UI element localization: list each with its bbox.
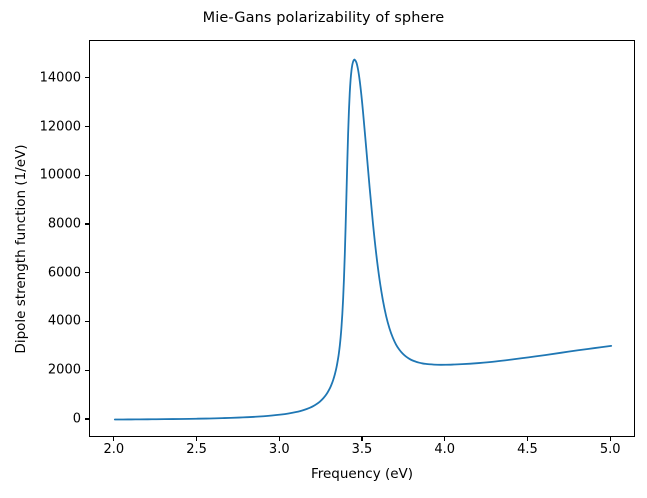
y-tick-label: 12000 xyxy=(40,120,81,133)
x-tick-label: 4.5 xyxy=(517,443,538,456)
x-tick-label: 3.0 xyxy=(269,443,290,456)
x-tick-label: 5.0 xyxy=(600,443,621,456)
y-tick-label: 14000 xyxy=(40,71,81,84)
y-tick-label: 4000 xyxy=(48,315,81,328)
matplotlib-figure: Mie-Gans polarizability of sphere Dipole… xyxy=(0,0,647,498)
x-axis-label: Frequency (eV) xyxy=(89,466,635,482)
x-tick-label: 2.5 xyxy=(186,443,207,456)
plot-area xyxy=(90,41,636,438)
y-axis-tick-labels: 02000400060008000100001200014000 xyxy=(0,0,81,498)
y-tick-label: 10000 xyxy=(40,169,81,182)
x-tick-label: 2.0 xyxy=(103,443,124,456)
chart-title: Mie-Gans polarizability of sphere xyxy=(0,10,647,26)
plot-axes xyxy=(89,40,635,437)
y-tick-label: 8000 xyxy=(48,217,81,230)
data-line-mie-gans xyxy=(115,60,611,420)
y-tick-label: 2000 xyxy=(48,364,81,377)
y-tick-label: 0 xyxy=(73,412,81,425)
x-tick-label: 4.0 xyxy=(434,443,455,456)
y-tick-label: 6000 xyxy=(48,266,81,279)
x-tick-label: 3.5 xyxy=(352,443,373,456)
